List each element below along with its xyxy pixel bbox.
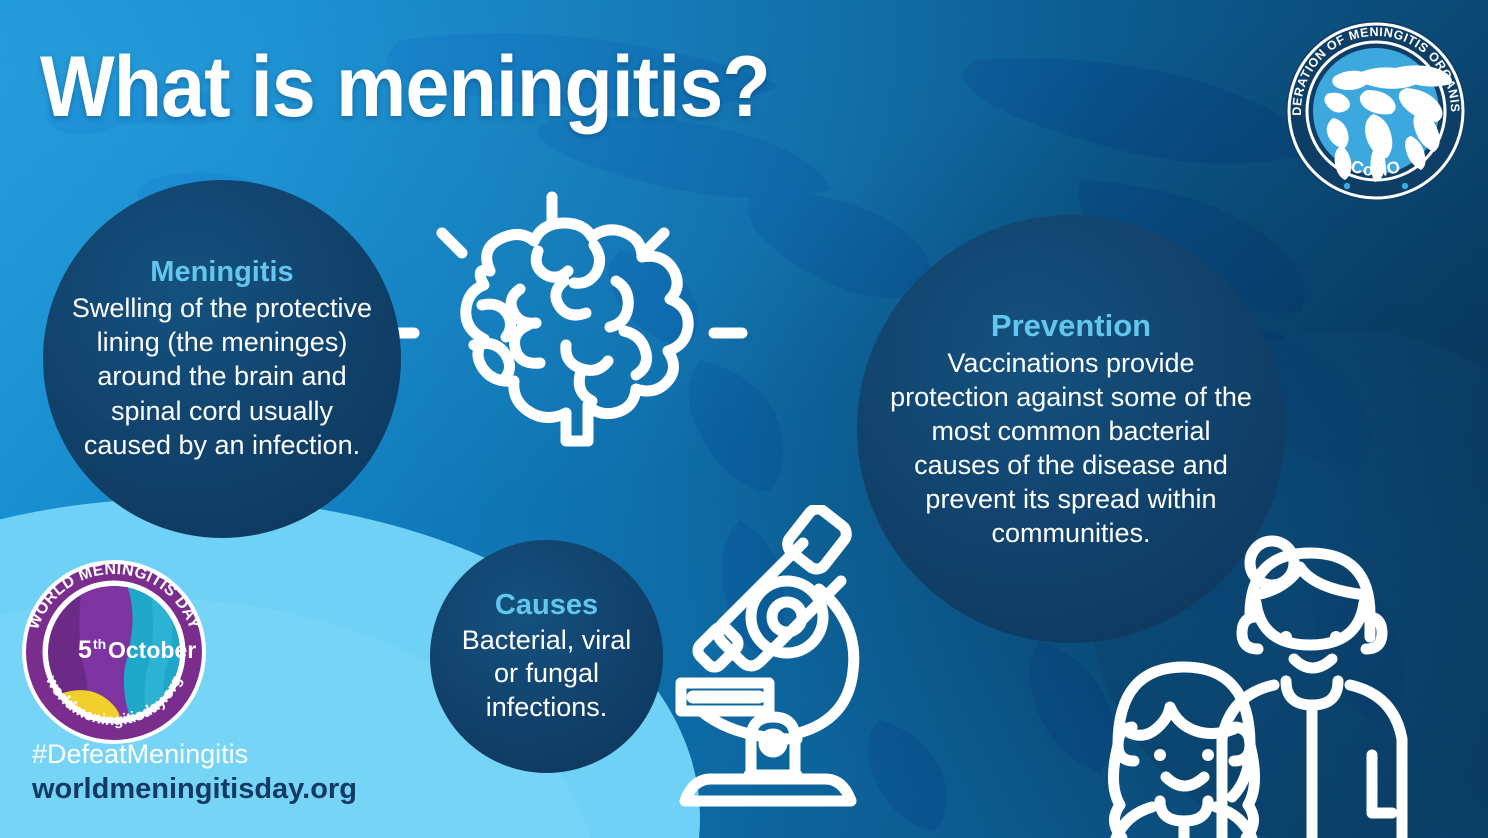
world-meningitis-day-badge[interactable]: WORLD MENINGITIS DAY worldmeningitisday.… <box>20 558 208 746</box>
poster-canvas: What is meningitis? <box>0 0 1488 838</box>
bubble-body-meningitis: Swelling of the protective lining (the m… <box>71 291 373 461</box>
hashtag-text: #DefeatMeningitis <box>32 739 357 770</box>
bubble-body-prevention: Vaccinations provide protection against … <box>885 346 1257 550</box>
microscope-icon <box>663 505 893 810</box>
info-bubble-causes: Causes Bacterial, viral or fungal infect… <box>430 540 663 773</box>
bubble-heading-causes: Causes <box>495 589 598 622</box>
website-link[interactable]: worldmeningitisday.org <box>32 772 357 807</box>
page-title: What is meningitis? <box>40 44 770 130</box>
como-logo: CONFEDERATION OF MENINGITIS ORGANISATION… <box>1283 18 1469 204</box>
brain-icon <box>378 185 748 475</box>
wmd-date-month: October <box>108 637 196 663</box>
footer-block: #DefeatMeningitis worldmeningitisday.org <box>32 739 357 807</box>
info-bubble-meningitis: Meningitis Swelling of the protective li… <box>43 180 401 538</box>
wmd-date-number: 5 <box>78 636 92 664</box>
wmd-date-suffix: th <box>93 636 106 652</box>
info-bubble-prevention: Prevention Vaccinations provide protecti… <box>857 215 1285 643</box>
bubble-body-causes: Bacterial, viral or fungal infections. <box>446 624 647 724</box>
bubble-heading-prevention: Prevention <box>991 308 1151 344</box>
bubble-heading-meningitis: Meningitis <box>150 256 293 289</box>
